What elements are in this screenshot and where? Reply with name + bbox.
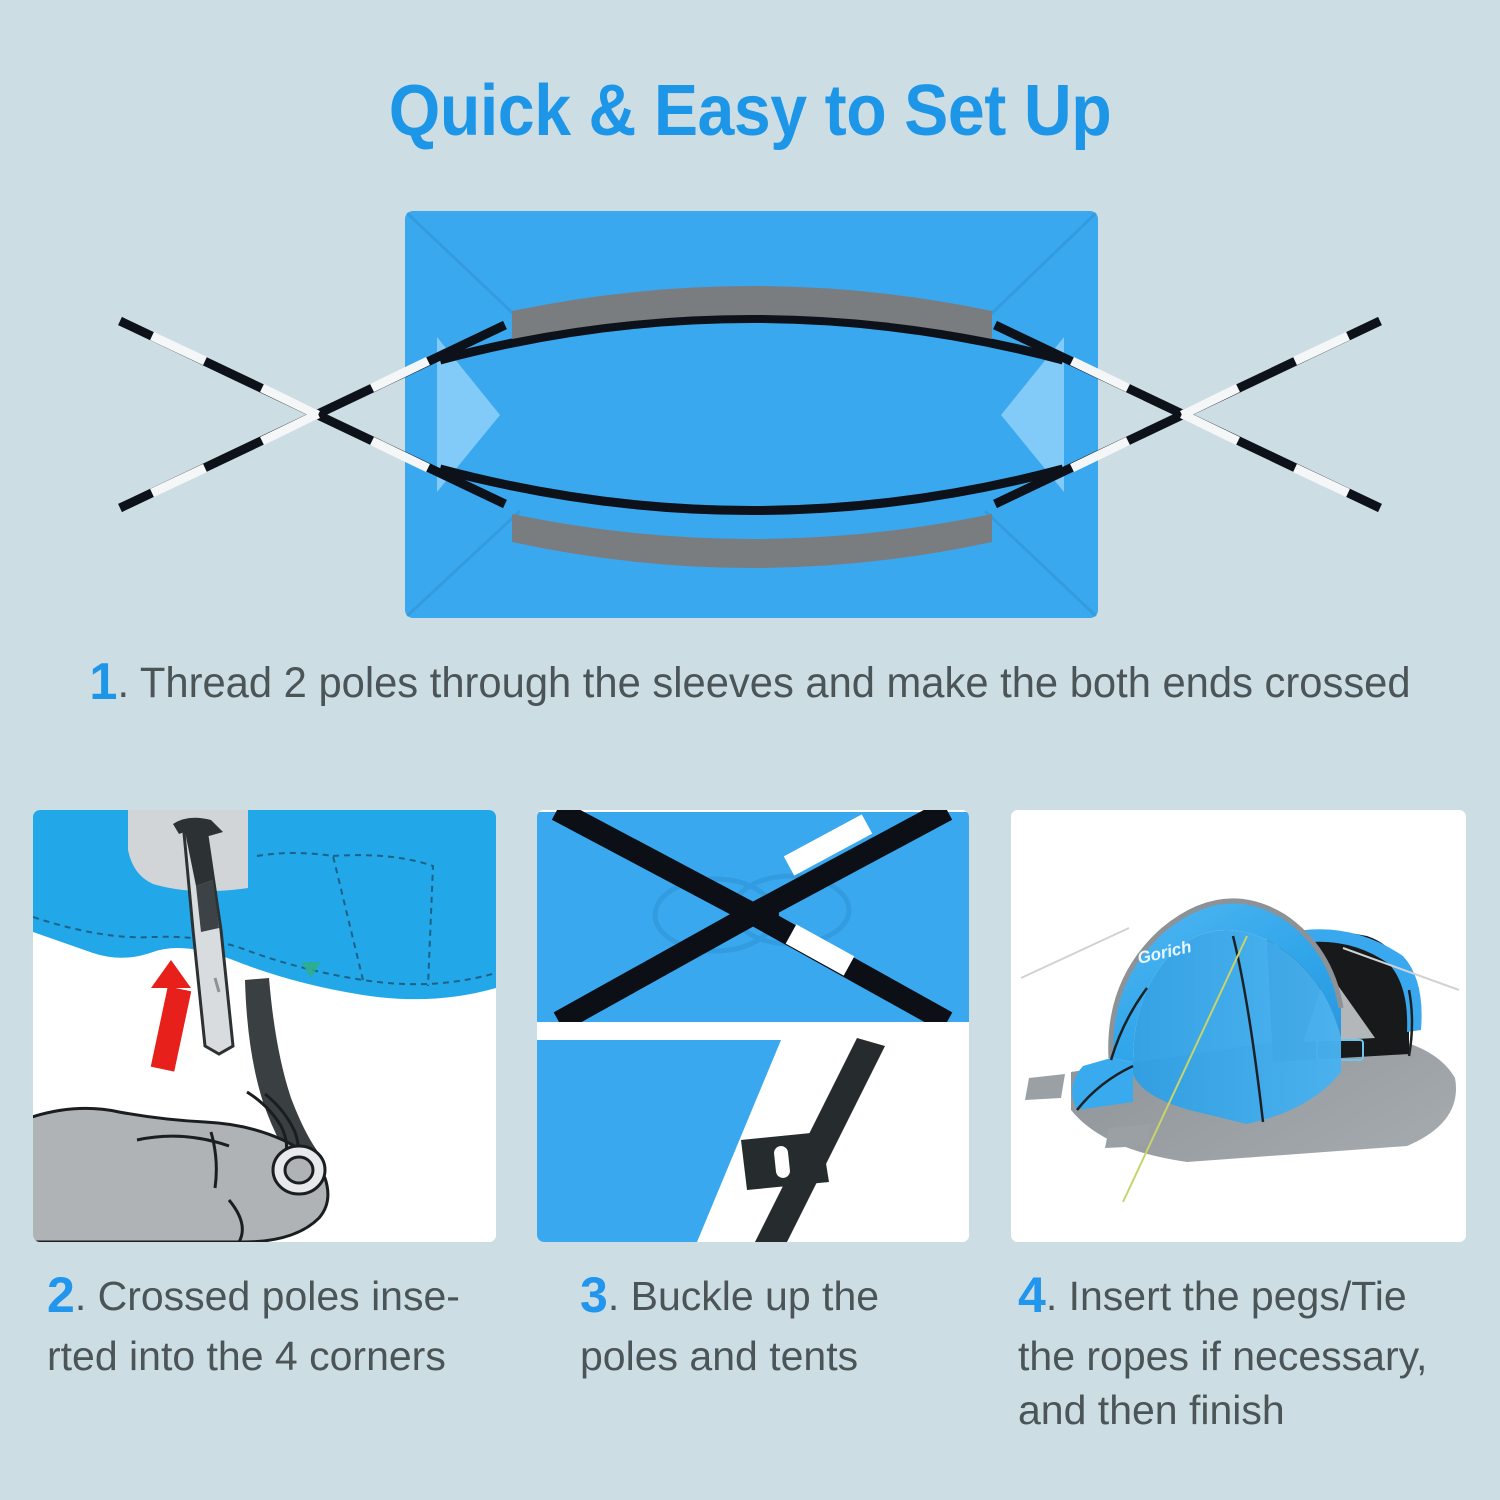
panel-assembled-beach-tent: Gorich [1011, 810, 1466, 1242]
step-4-separator: . [1046, 1273, 1069, 1319]
step-2-line-1: Crossed poles inse- [98, 1273, 460, 1319]
panel-pole-into-corner [33, 810, 496, 1242]
step-4-line-2: the ropes if necessary, [1018, 1333, 1427, 1379]
step-4-caption: 4. Insert the pegs/Tie the ropes if nece… [1018, 1262, 1468, 1438]
step-4-number: 4 [1018, 1267, 1046, 1323]
buckle-strap-subimage [537, 1036, 969, 1242]
step-1-separator: . [117, 659, 139, 707]
crossed-poles-subimage [537, 810, 969, 1022]
step-2-number: 2 [47, 1267, 75, 1323]
step-1-number: 1 [89, 653, 117, 711]
step-3-line-2: poles and tents [580, 1333, 858, 1379]
step-3-caption: 3. Buckle up the poles and tents [580, 1262, 980, 1383]
page-title: Quick & Easy to Set Up [60, 70, 1440, 152]
panel-buckle-poles-and-tents [537, 810, 969, 1242]
tent-pole-threading-diagram [0, 185, 1500, 640]
step-2-separator: . [75, 1273, 98, 1319]
step-4-line-3: and then finish [1018, 1387, 1285, 1433]
step-3-number: 3 [580, 1267, 608, 1323]
step-2-line-2: rted into the 4 corners [47, 1333, 446, 1379]
step-1-text: Thread 2 poles through the sleeves and m… [140, 659, 1411, 707]
step-1-caption: 1. Thread 2 poles through the sleeves an… [23, 652, 1478, 712]
step-3-line-1: Buckle up the [631, 1273, 879, 1319]
step-3-separator: . [608, 1273, 631, 1319]
step-4-line-1: Insert the pegs/Tie [1069, 1273, 1407, 1319]
step-2-caption: 2. Crossed poles inse- rted into the 4 c… [47, 1262, 517, 1383]
